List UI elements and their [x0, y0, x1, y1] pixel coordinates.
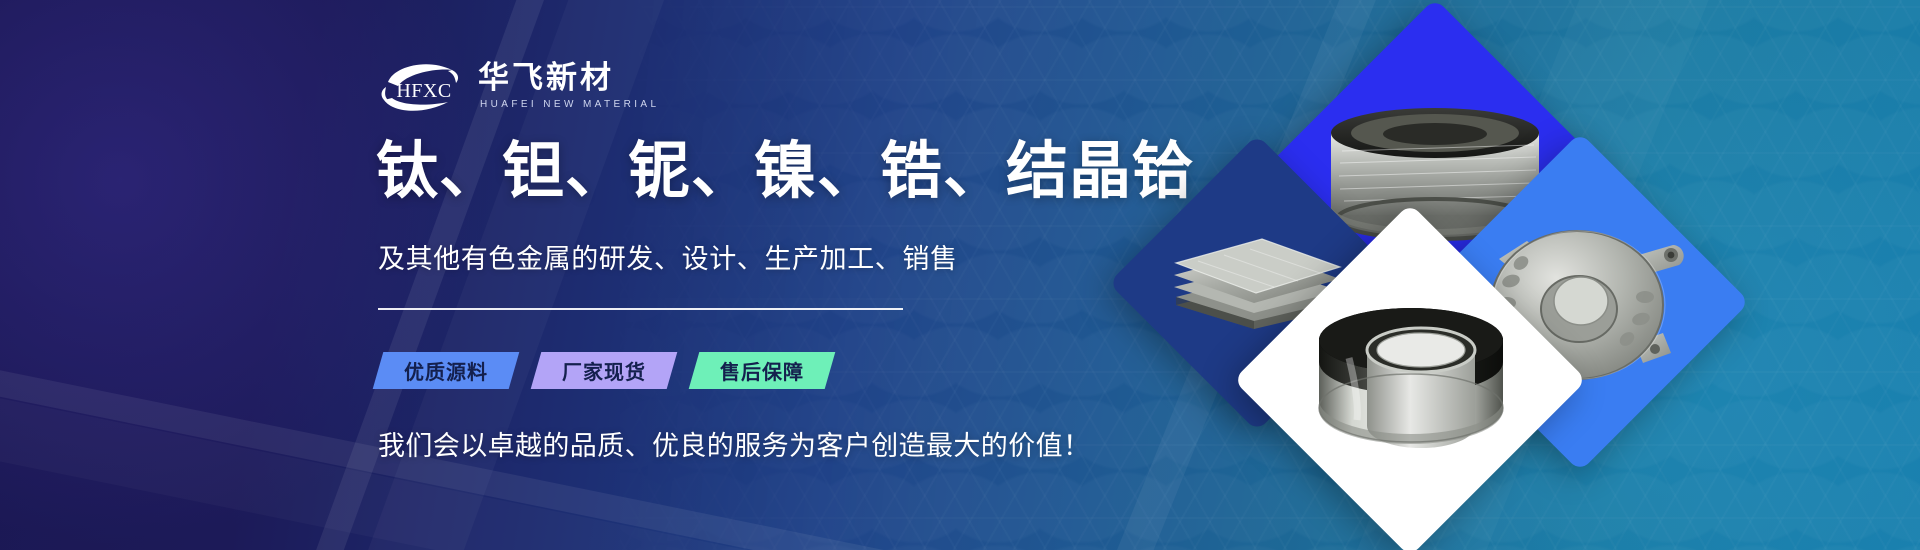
divider — [378, 308, 903, 310]
feature-badge-0[interactable]: 优质源料 — [373, 352, 520, 389]
banner-content: HFXC 华飞新材 HUAFEI NEW MATERIAL 钛、钽、铌、镍、锆、… — [378, 0, 1138, 550]
feature-badge-label: 售后保障 — [720, 356, 804, 385]
feature-badge-2[interactable]: 售后保障 — [689, 352, 836, 389]
brand-logo[interactable]: HFXC 华飞新材 HUAFEI NEW MATERIAL — [378, 56, 659, 118]
feature-badge-label: 优质源料 — [404, 356, 488, 385]
brand-lockup: 华飞新材 HUAFEI NEW MATERIAL — [478, 61, 659, 113]
feature-badge-1[interactable]: 厂家现货 — [531, 352, 678, 389]
feature-badge-list: 优质源料 厂家现货 售后保障 — [378, 352, 852, 389]
brand-name-en: HUAFEI NEW MATERIAL — [478, 97, 659, 113]
feature-badge-label: 厂家现货 — [562, 356, 646, 385]
brand-name-cn: 华飞新材 — [478, 61, 659, 95]
metal-ring-image — [1303, 288, 1518, 473]
hfxc-monogram: HFXC — [396, 80, 451, 102]
product-gallery — [1060, 0, 1920, 550]
promo-banner: HFXC 华飞新材 HUAFEI NEW MATERIAL 钛、钽、铌、镍、锆、… — [0, 0, 1920, 550]
page-subtitle: 及其他有色金属的研发、设计、生产加工、销售 — [378, 237, 958, 276]
tagline: 我们会以卓越的品质、优良的服务为客户创造最大的价值！ — [378, 424, 1090, 463]
hfxc-swoosh-icon: HFXC — [378, 56, 470, 118]
